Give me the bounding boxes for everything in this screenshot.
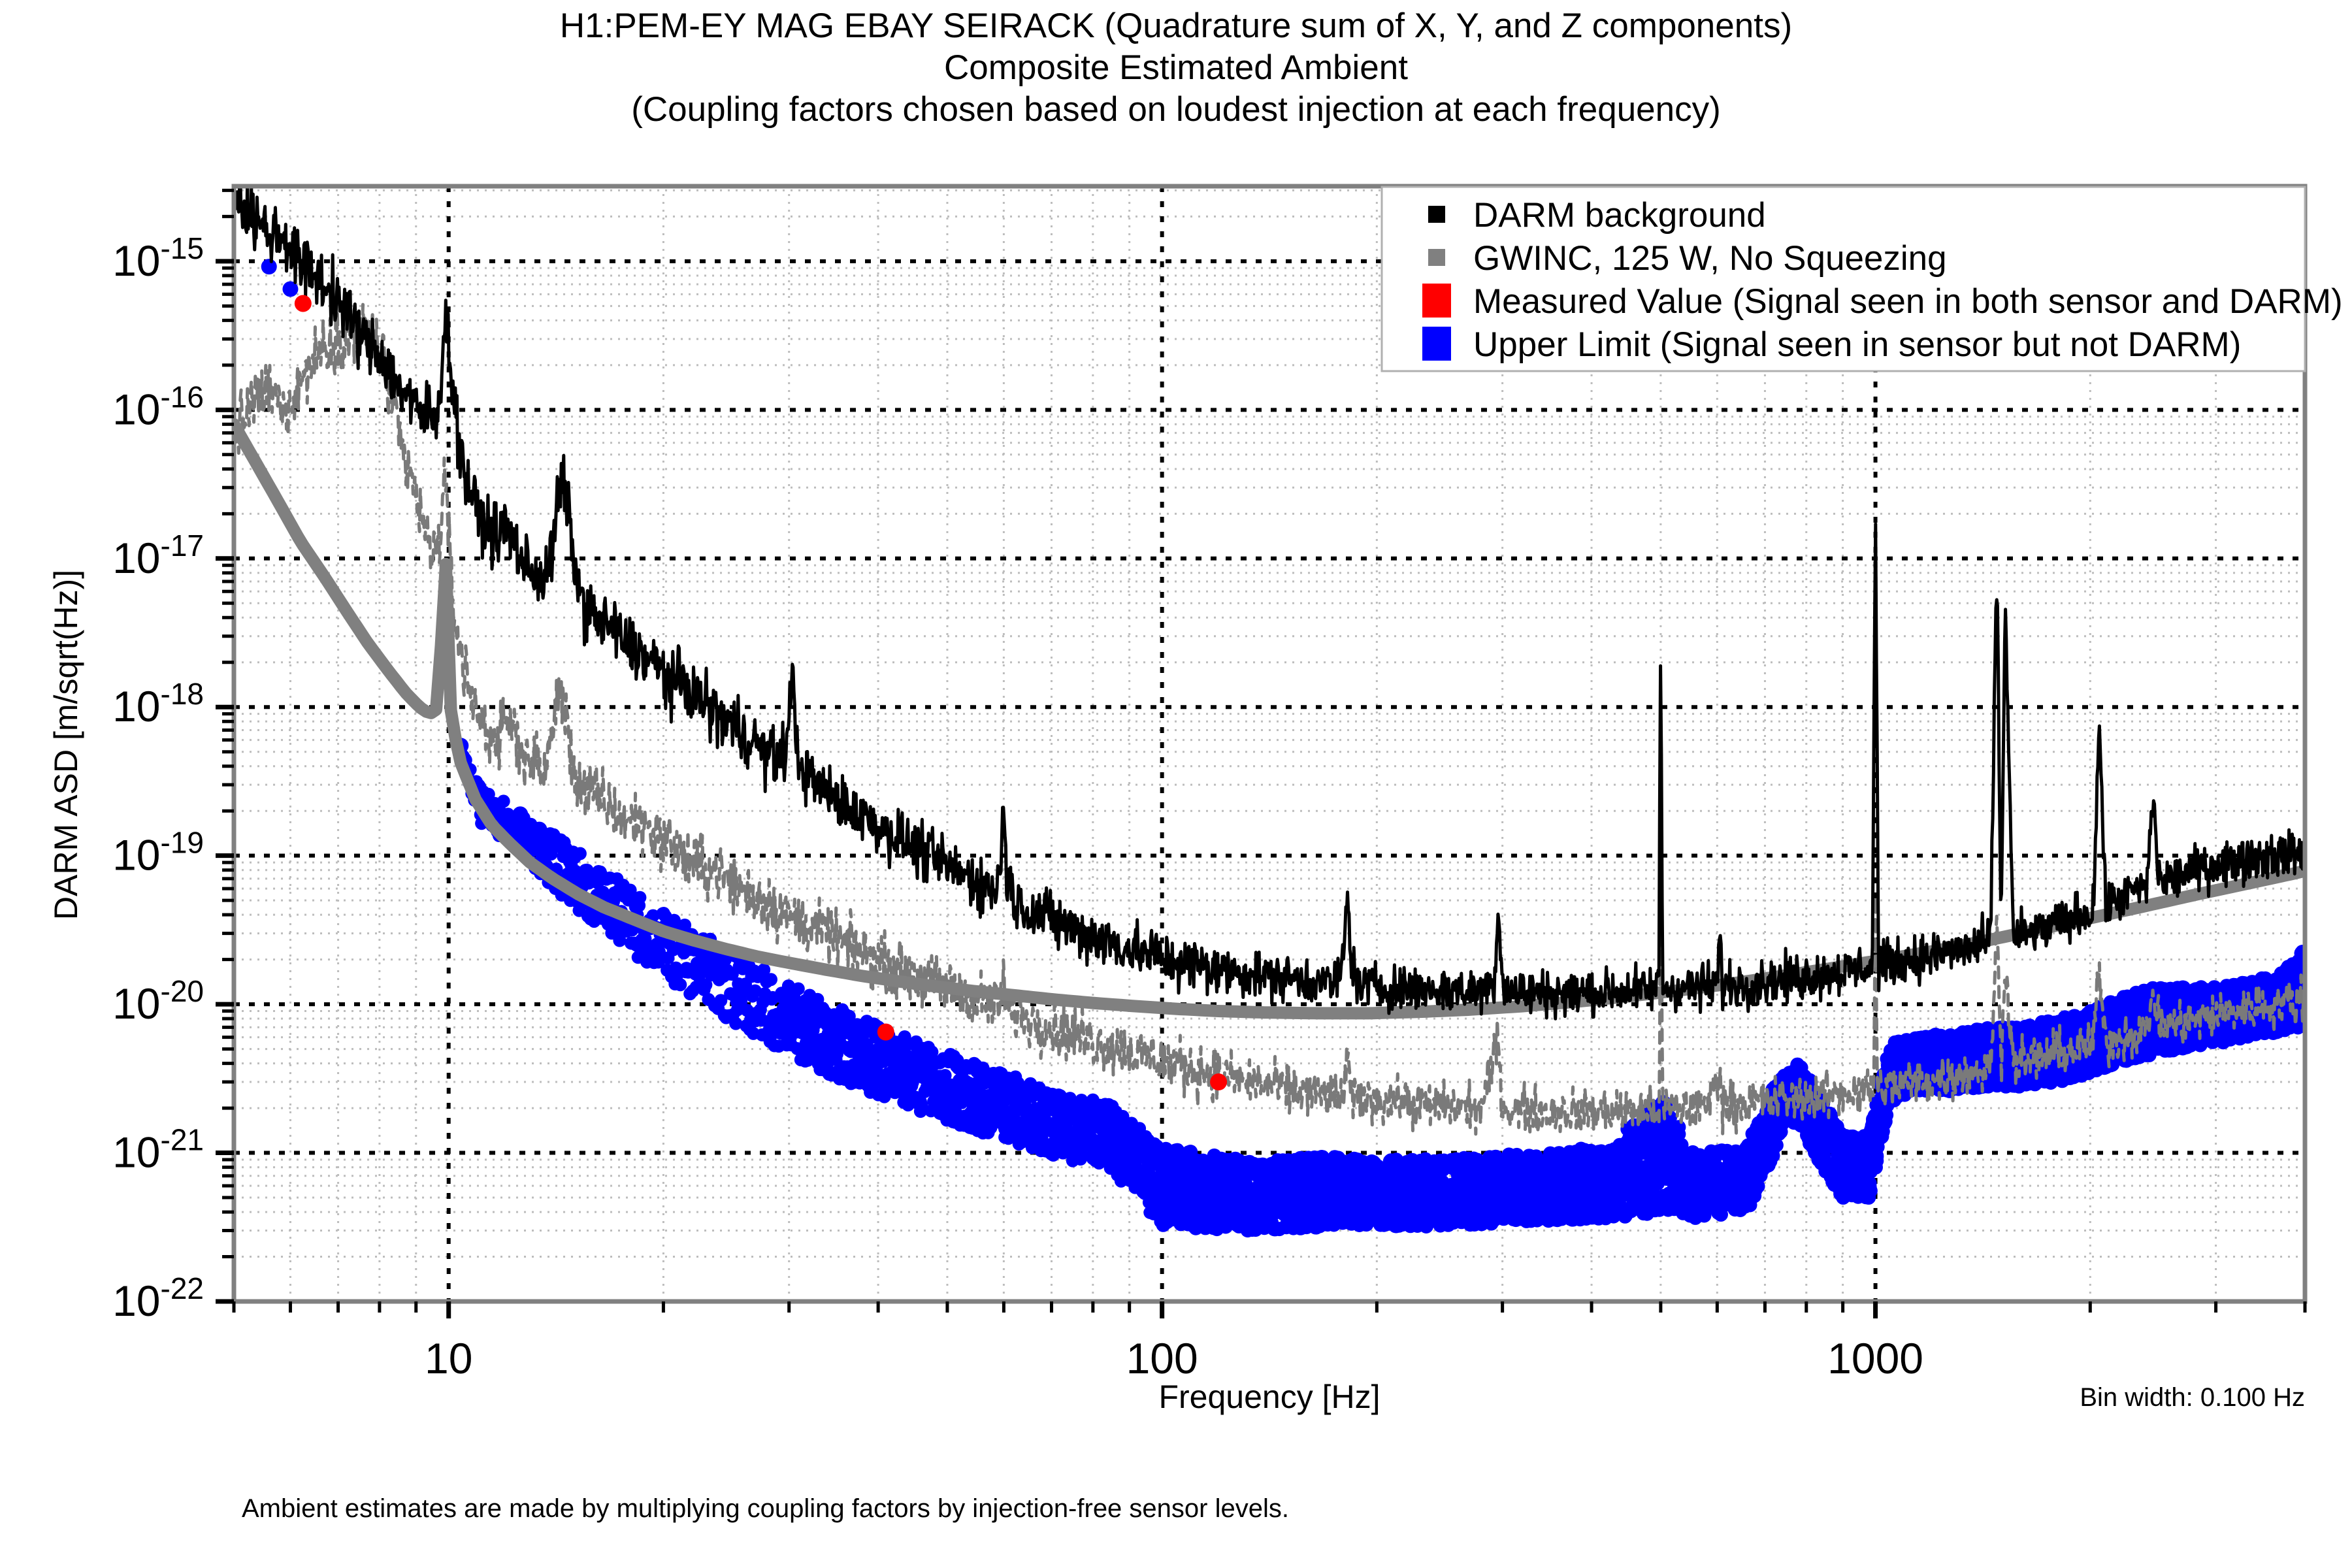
upper-limit-point (792, 983, 805, 996)
upper-limit-point (482, 788, 495, 801)
upper-limit-point (1863, 1184, 1878, 1198)
upper-limit-point (497, 794, 510, 808)
asd-spectrum-plot: 10100100010-1510-1610-1710-1810-1910-201… (0, 0, 2352, 1568)
upper-limit-point (1671, 1120, 1686, 1134)
upper-limit-point (261, 259, 277, 274)
upper-limit-point (764, 973, 777, 986)
upper-limit-point (1869, 1154, 1884, 1168)
upper-limit-point (674, 978, 687, 991)
upper-limit-point (633, 891, 646, 904)
upper-limit-point (574, 847, 587, 860)
figure-root: H1:PEM-EY MAG EBAY SEIRACK (Quadrature s… (0, 0, 2352, 1568)
